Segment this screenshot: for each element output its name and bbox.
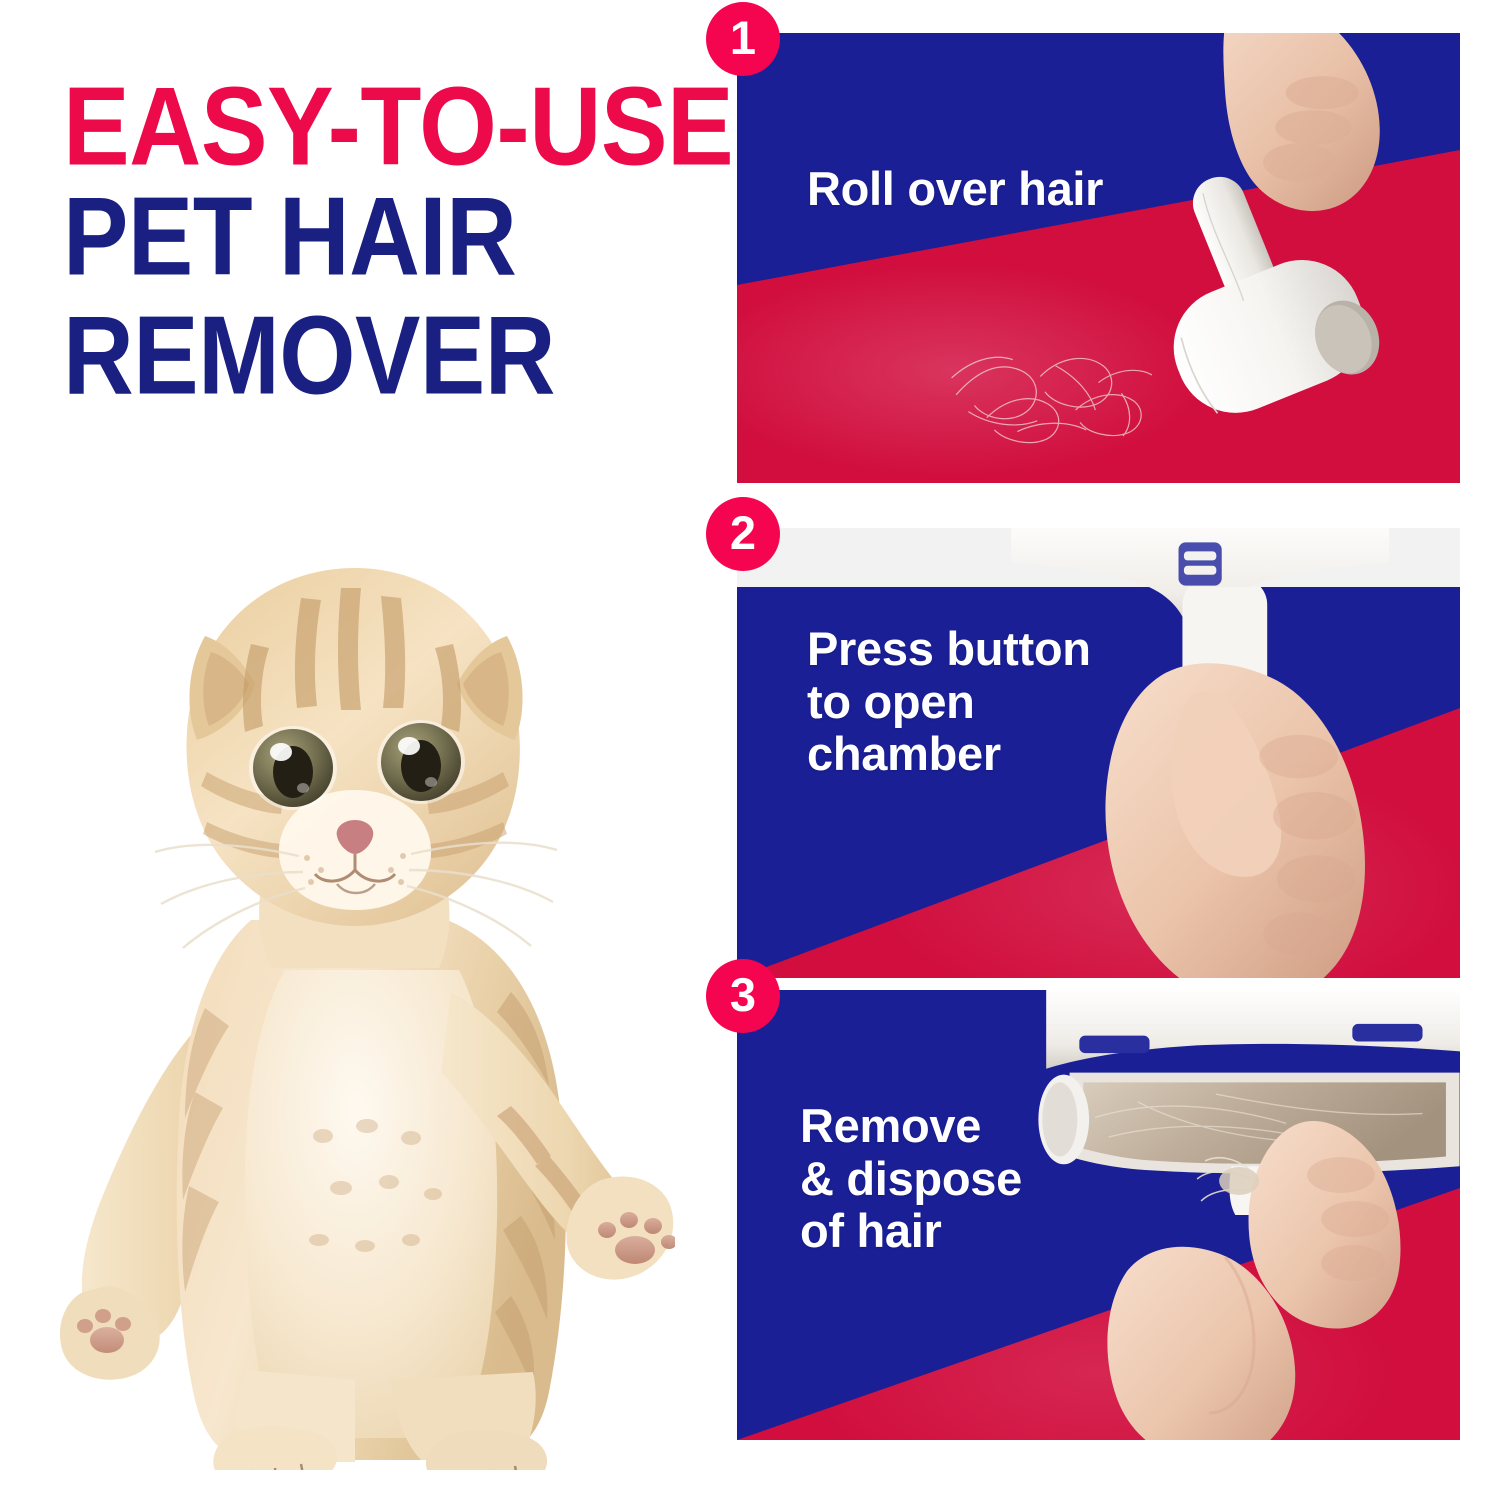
cat-hero-image — [55, 540, 675, 1470]
step-panel-2: 2 Press button to open chamber — [737, 528, 1460, 978]
step-caption-2: Press button to open chamber — [807, 623, 1091, 781]
infographic-root: EASY-TO-USE PET HAIR REMOVER — [0, 0, 1500, 1500]
step-panel-3: 3 Remove & dispose of hair — [737, 990, 1460, 1440]
cat-illustration — [55, 540, 675, 1470]
hands-removing-hair — [1041, 1107, 1460, 1440]
step-1-photo — [737, 33, 1460, 483]
headline-line-2: PET HAIR — [63, 188, 703, 284]
hand-holding-roller — [1142, 33, 1460, 258]
step-caption-3: Remove & dispose of hair — [800, 1100, 1022, 1258]
headline-line-3: REMOVER — [63, 307, 703, 403]
headline-line-1: EASY-TO-USE — [63, 78, 716, 174]
page-title: EASY-TO-USE PET HAIR REMOVER — [63, 78, 703, 391]
step-caption-1: Roll over hair — [807, 163, 1103, 216]
step-badge-2: 2 — [706, 497, 780, 571]
step-badge-1: 1 — [706, 2, 780, 76]
step-panel-1: 1 Roll over hair — [737, 33, 1460, 483]
step-badge-3: 3 — [706, 959, 780, 1033]
cat-head — [155, 568, 557, 968]
